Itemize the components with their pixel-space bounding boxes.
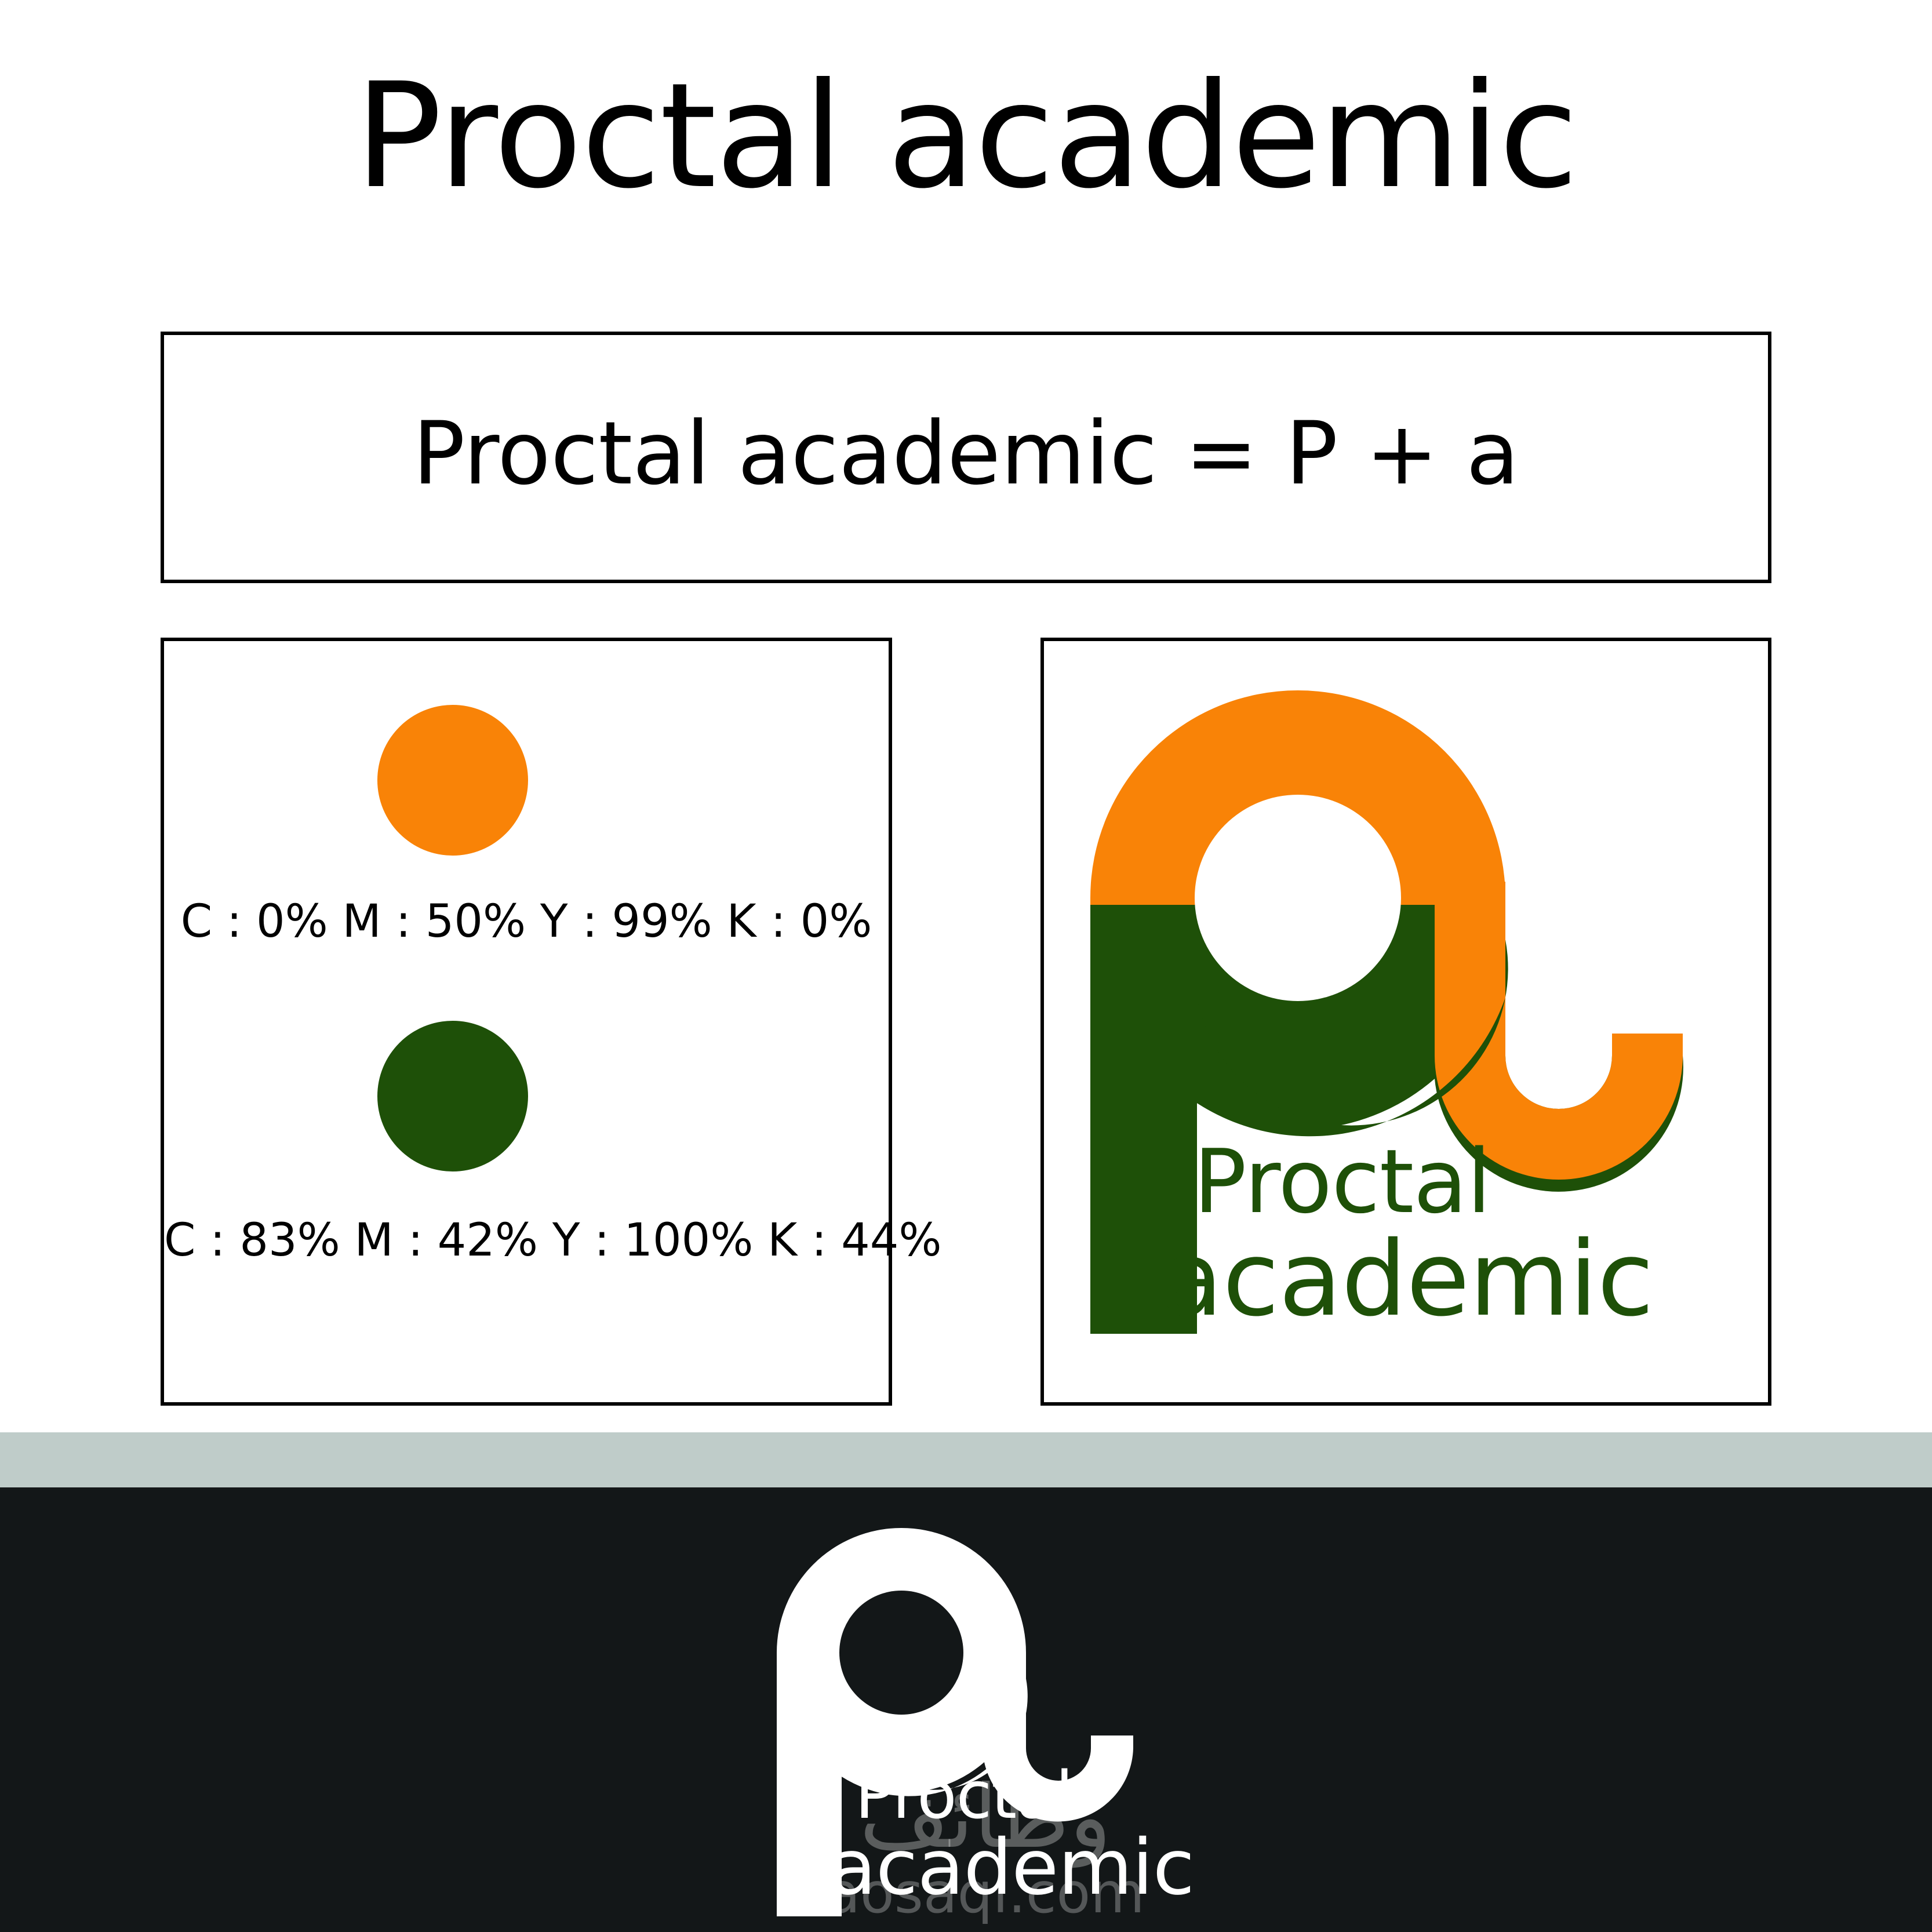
footer-wordmark-line2: academic: [829, 1829, 1272, 1907]
logo-mark-counter: [1195, 795, 1401, 1001]
footer-mark-counter: [839, 1591, 963, 1715]
logo-preview-panel: Proctal academic: [1040, 638, 1771, 1406]
equation-text: Proctal academic = P + a: [413, 410, 1519, 497]
green-color-swatch: [377, 1021, 528, 1171]
poster-canvas: Proctal academic Proctal academic = P + …: [0, 0, 1932, 1932]
logo-wordmark-line1: Proctal: [1194, 1137, 1704, 1227]
equation-box: Proctal academic = P + a: [161, 332, 1771, 583]
logo-wordmark: Proctal academic: [1194, 1137, 1704, 1332]
page-title: Proctal academic: [0, 64, 1932, 209]
orange-cmyk-label: C : 0% M : 50% Y : 99% K : 0%: [164, 899, 889, 944]
color-palette-panel: C : 0% M : 50% Y : 99% K : 0% C : 83% M …: [161, 638, 892, 1406]
footer-band: Proctal academic: [0, 1487, 1932, 1932]
divider-band: [0, 1432, 1932, 1487]
logo-wordmark-line2: academic: [1160, 1227, 1704, 1332]
orange-color-swatch: [377, 705, 528, 856]
footer-wordmark: Proctal academic: [855, 1763, 1272, 1907]
green-cmyk-label: C : 83% M : 42% Y : 100% K : 44%: [164, 1218, 889, 1263]
footer-wordmark-line1: Proctal: [855, 1763, 1272, 1829]
